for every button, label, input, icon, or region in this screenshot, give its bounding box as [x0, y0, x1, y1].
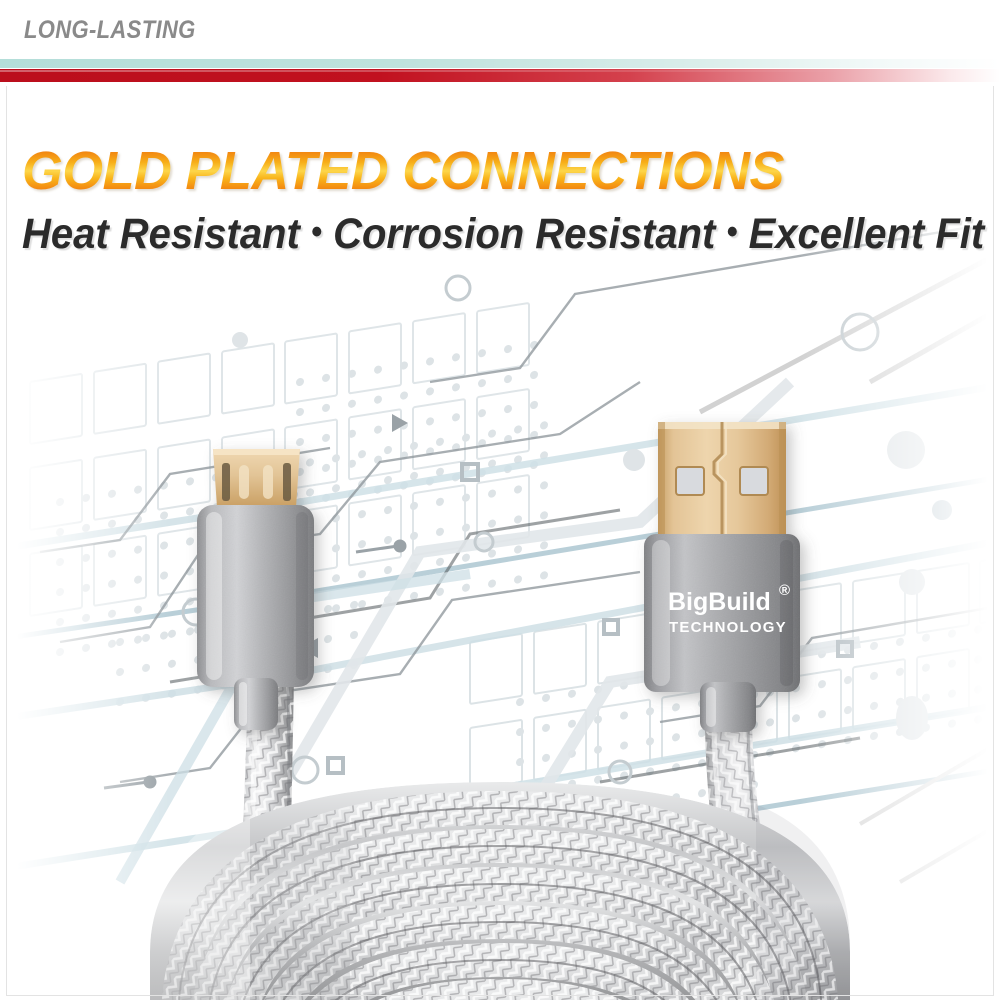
- teal-accent-stripe: [0, 59, 1000, 68]
- micro-usb-gold-tip: [213, 449, 300, 507]
- brand-registered-mark: ®: [779, 582, 790, 599]
- product-marketing-image: LONG-LASTING: [0, 0, 1000, 1000]
- brand-subtitle: TECHNOLOGY: [669, 619, 787, 636]
- micro-usb-connector: [197, 449, 314, 730]
- feature-list: Heat Resistant • Corrosion Resistant • E…: [22, 210, 984, 259]
- red-stripe-highlight: [0, 70, 1000, 72]
- feature-item-3: Excellent Fit: [749, 210, 985, 258]
- brand-name: BigBuild: [668, 588, 771, 616]
- feature-item-2: Corrosion Resistant: [333, 210, 715, 258]
- usb-a-gold-plug: [658, 422, 786, 540]
- usb-a-connector: BigBuild ® TECHNOLOGY: [644, 422, 800, 732]
- feature-item-1: Heat Resistant: [22, 210, 300, 258]
- bullet-separator-2: •: [726, 213, 737, 252]
- bullet-separator-1: •: [311, 213, 322, 252]
- eyebrow-label: LONG-LASTING: [24, 16, 196, 45]
- page-title: GOLD PLATED CONNECTIONS: [22, 140, 784, 202]
